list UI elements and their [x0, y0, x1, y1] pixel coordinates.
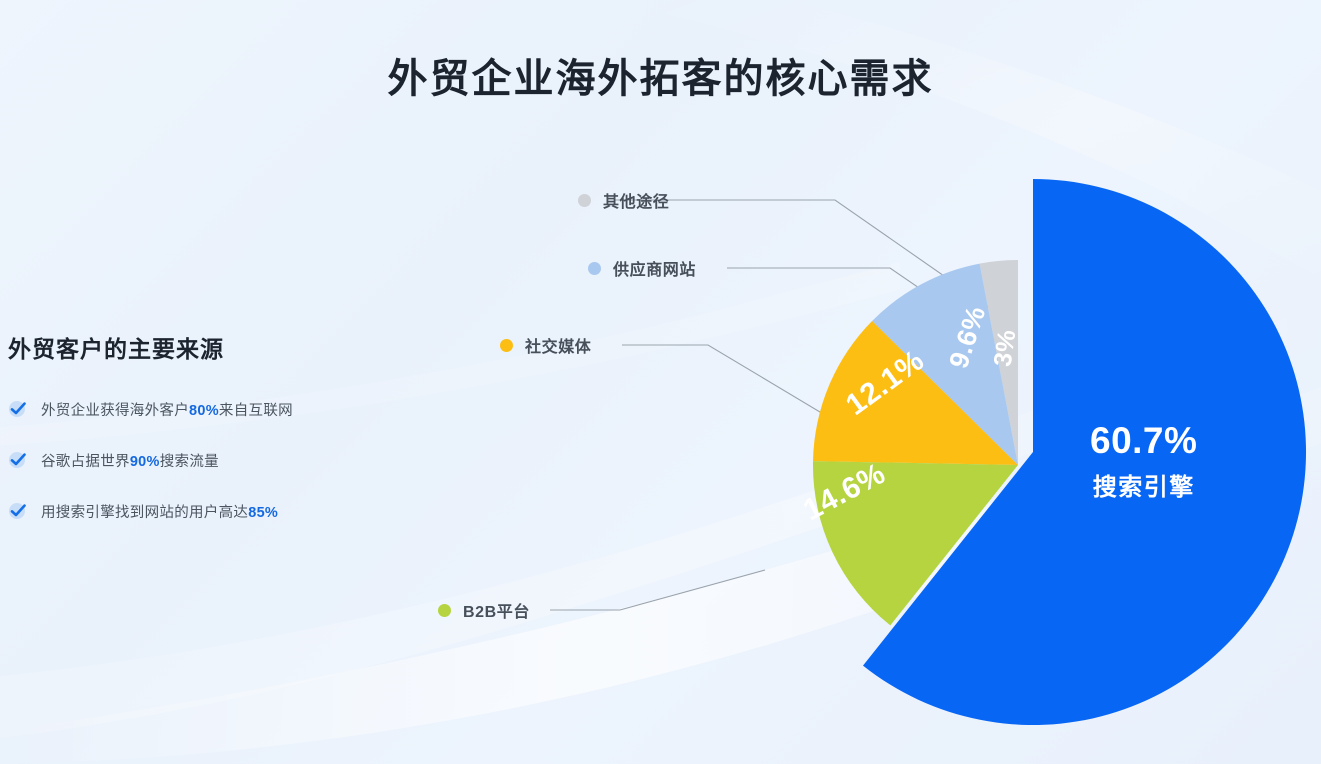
legend-item-other[interactable]: 其他途径	[578, 188, 669, 212]
infographic-canvas: 外贸企业海外拓客的核心需求 外贸客户的主要来源 外贸企业获得海外客户80%来自互…	[0, 0, 1321, 764]
legend-item-supplier[interactable]: 供应商网站	[588, 256, 696, 280]
legend-dot-other-icon	[578, 194, 591, 207]
pie-chart: 其他途径 供应商网站 社交媒体 B2B平台	[420, 140, 1321, 750]
legend-label-social: 社交媒体	[525, 333, 591, 357]
check-icon	[8, 450, 28, 470]
leader-line-b2b	[550, 570, 765, 610]
bullet-highlight: 80%	[189, 403, 219, 419]
page-title: 外贸企业海外拓客的核心需求	[0, 46, 1321, 104]
legend-label-b2b: B2B平台	[463, 598, 530, 622]
left-info-panel: 外贸客户的主要来源 外贸企业获得海外客户80%来自互联网 谷歌占据世界90%搜索…	[8, 330, 388, 551]
list-item: 外贸企业获得海外客户80%来自互联网	[8, 398, 388, 420]
legend-label-supplier: 供应商网站	[613, 256, 696, 280]
list-item-text: 谷歌占据世界90%搜索流量	[41, 450, 219, 471]
leader-line-social	[622, 345, 845, 427]
bullet-suffix: 搜索流量	[160, 454, 219, 470]
list-item-text: 外贸企业获得海外客户80%来自互联网	[41, 399, 293, 420]
pie-slices	[420, 140, 1321, 750]
bullet-prefix: 用搜索引擎找到网站的用户高达	[41, 505, 248, 521]
left-panel-heading: 外贸客户的主要来源	[8, 330, 388, 364]
bullet-suffix: 来自互联网	[219, 403, 293, 419]
legend-dot-social-icon	[500, 339, 513, 352]
bullet-highlight: 85%	[248, 505, 278, 521]
list-item: 用搜索引擎找到网站的用户高达85%	[8, 500, 388, 522]
list-item-text: 用搜索引擎找到网站的用户高达85%	[41, 501, 278, 522]
legend-dot-b2b-icon	[438, 604, 451, 617]
check-icon	[8, 501, 28, 521]
bullet-prefix: 外贸企业获得海外客户	[41, 403, 189, 419]
legend-dot-supplier-icon	[588, 262, 601, 275]
legend-item-social[interactable]: 社交媒体	[500, 333, 591, 357]
bullet-prefix: 谷歌占据世界	[41, 454, 130, 470]
legend-item-b2b[interactable]: B2B平台	[438, 598, 530, 622]
legend-label-other: 其他途径	[603, 188, 669, 212]
check-icon	[8, 399, 28, 419]
list-item: 谷歌占据世界90%搜索流量	[8, 449, 388, 471]
bullet-highlight: 90%	[130, 454, 160, 470]
